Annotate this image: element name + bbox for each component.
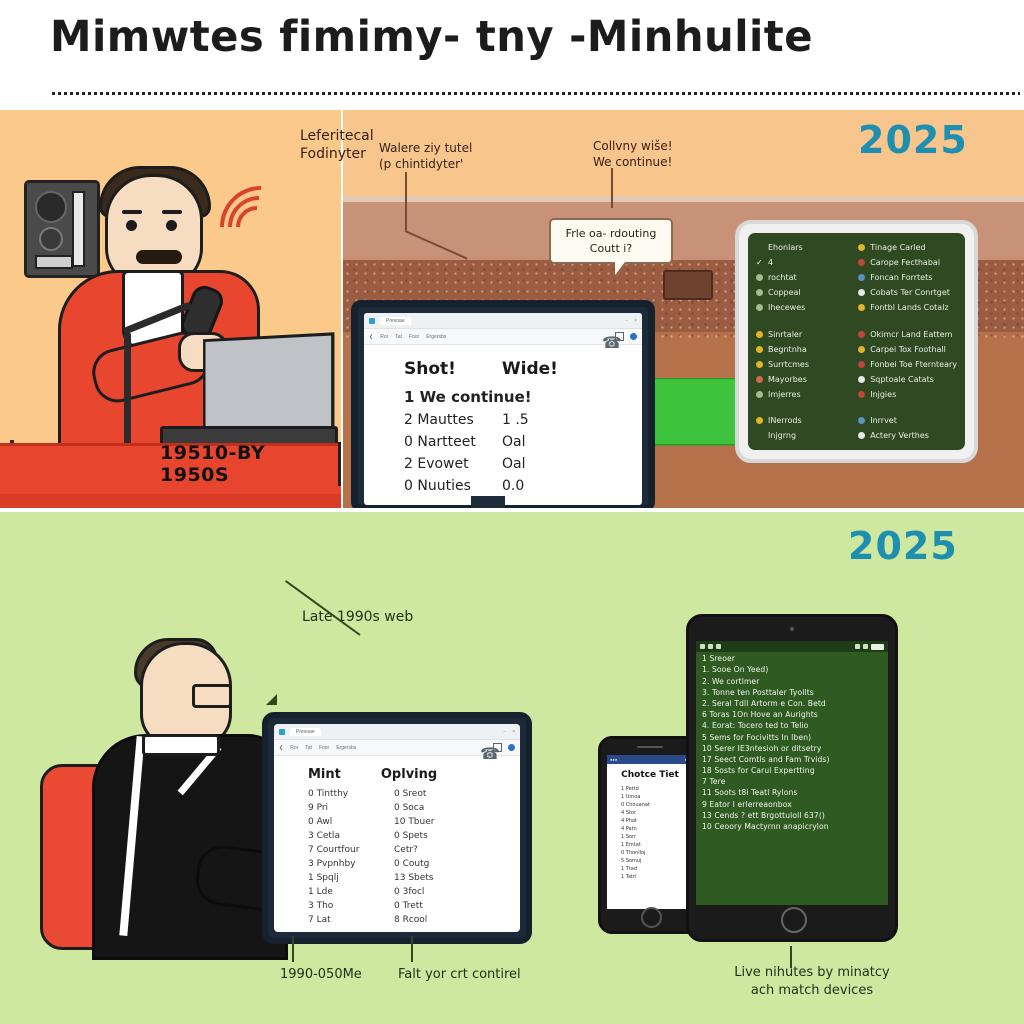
year-label-2025-bottom: 2025 xyxy=(848,524,958,568)
table-row: 0 Awl10 Tbuer xyxy=(308,817,520,827)
bullet-icon xyxy=(858,432,865,439)
list-item-label: Ihecewes xyxy=(768,303,805,312)
toolbar-item[interactable]: Ergersbs xyxy=(336,745,356,751)
toolbar-item[interactable]: Foor xyxy=(319,745,329,751)
toolbar-item[interactable]: Ergersbs xyxy=(426,334,446,340)
match-stats-sheet: Shot! Wide! 1 We continue! 2 Mauttes 1 .… xyxy=(364,345,642,494)
signal-bars-icon xyxy=(863,644,868,649)
list-item[interactable]: 13 Cends ? ett Brgottuloll 637() xyxy=(696,809,888,820)
list-item[interactable]: 0 Chouanat xyxy=(607,802,693,810)
profile-icon[interactable] xyxy=(630,333,637,340)
list-item-label: rochtat xyxy=(768,273,797,282)
list-item[interactable]: 18 Sosts for Carul Expertting xyxy=(696,764,888,775)
radio-speaker-icon xyxy=(24,180,100,278)
stadium-press-box xyxy=(663,270,713,300)
close-icon[interactable]: × xyxy=(512,729,515,735)
radio-side-label: Leferitecal Fodinyter xyxy=(300,127,420,163)
commentator-eye xyxy=(166,220,177,231)
list-item[interactable]: Carope Fecthabal xyxy=(858,258,957,267)
stats-col-header-right: Wide! xyxy=(502,359,558,379)
phone-home-button[interactable] xyxy=(641,907,662,928)
list-item[interactable]: 3. Tonne ten Posttaler Tyollts xyxy=(696,686,888,697)
cell-left: 1 Lde xyxy=(308,887,384,897)
list-item[interactable]: 10 Serer IE3ntesioh or ditsetry xyxy=(696,742,888,753)
toolbar-item[interactable]: Foor xyxy=(409,334,419,340)
radio-side-label-line2: Fodinyter xyxy=(300,145,420,163)
table-row: 3 Tho0 Trett xyxy=(308,901,520,911)
year-label-2025-top: 2025 xyxy=(858,118,968,162)
window-controls[interactable]: − × xyxy=(625,318,637,324)
list-item-label: Surrtcmes xyxy=(768,360,809,369)
cell-left: 0 Tintthy xyxy=(308,789,384,799)
minimize-icon[interactable]: − xyxy=(503,729,506,735)
stadium-tablet: Ehonlars✓4rochtatCoppealIhecewesSinrtale… xyxy=(735,220,978,463)
monitor-neck xyxy=(471,496,505,508)
bullet-icon xyxy=(858,289,865,296)
browser-toolbar[interactable]: ❮ Ror Tat Foor Ergersbs ☎ xyxy=(364,329,642,345)
browser-tab-bar[interactable]: Prevoae − × xyxy=(364,313,642,329)
browser-toolbar[interactable]: ❮ Ror Tat Foor Ergersbs ☎ xyxy=(274,740,520,756)
list-item-label: Coppeal xyxy=(768,288,801,297)
check-icon: ✓ xyxy=(756,259,763,266)
list-item[interactable]: Foncan Forrtets xyxy=(858,273,957,282)
toolbar-item[interactable]: Ror xyxy=(380,334,388,340)
list-spacer xyxy=(858,405,957,411)
speech-bubble-line2: Coutt i? xyxy=(556,241,666,256)
toolbar-item[interactable]: Tat xyxy=(305,745,312,751)
bullet-icon xyxy=(756,304,763,311)
toolbar-item[interactable]: Tat xyxy=(395,334,402,340)
page-title: Mimwtes fimimy- tny -Minhulite xyxy=(50,12,813,62)
table-row: 1 Lde0 3focl xyxy=(308,887,520,897)
panel-radio-era: 19510-BY 1950S xyxy=(0,110,341,508)
tablet-home-button[interactable] xyxy=(781,907,807,933)
list-item[interactable]: Okimcr Land Eattem xyxy=(858,330,957,339)
list-spacer xyxy=(858,318,957,324)
list-item-label: INerrods xyxy=(768,416,802,425)
browser-tab-bar[interactable]: Prevoae − × xyxy=(274,724,520,740)
bullet-icon xyxy=(756,244,763,251)
stats-col-header-left: Shot! xyxy=(404,359,456,379)
bullet-icon xyxy=(858,331,865,338)
list-item[interactable]: Injgies xyxy=(858,390,957,399)
caption-right: Live nihutes by minatcy ach match device… xyxy=(702,964,922,1000)
list-item-label: Tinage Carled xyxy=(870,243,925,252)
desktop-monitor: Prevoae − × ❮ Ror Tat Foor Ergersbs ☎ xyxy=(351,300,655,508)
stats-header-row: Shot! Wide! xyxy=(404,359,642,379)
list-item[interactable]: 4 Phat xyxy=(607,818,693,826)
list-item-label: Mayorbes xyxy=(768,375,807,384)
annotation-arrow-head xyxy=(266,694,277,705)
bullet-icon xyxy=(858,346,865,353)
phone-status-bar: ●●● ■■ xyxy=(607,755,693,764)
list-item[interactable]: 1 Ttad xyxy=(607,866,693,874)
bullet-icon xyxy=(756,346,763,353)
list-item[interactable]: Tinage Carled xyxy=(858,243,957,252)
status-right-icons xyxy=(855,644,884,650)
list-item[interactable]: 0 Thonlloj xyxy=(607,850,693,858)
list-item[interactable]: ✓4 xyxy=(756,258,850,267)
cell-right: 0 Soca xyxy=(394,803,424,813)
annotation-right-line2: We continue! xyxy=(593,154,743,170)
list-item[interactable]: 4 Patn xyxy=(607,826,693,834)
list-item[interactable]: 4 Stor xyxy=(607,810,693,818)
browser-tab[interactable]: Prevoae xyxy=(380,317,411,325)
list-item[interactable]: 1. Sooe On Yeed) xyxy=(696,663,888,674)
list-item[interactable]: Carpei Tox Foothall xyxy=(858,345,957,354)
list-item-label: Sinrtaler xyxy=(768,330,802,339)
tablet-screen[interactable]: Ehonlars✓4rochtatCoppealIhecewesSinrtale… xyxy=(748,233,965,450)
cell-left: 1 Spqlj xyxy=(308,873,384,883)
browser-window[interactable]: Prevoae − × ❮ Ror Tat Foor Ergersbs ☎ xyxy=(364,313,642,505)
list-item[interactable]: Begntnha xyxy=(756,345,850,354)
table-row: 3 Cetla0 Spets xyxy=(308,831,520,841)
table-row: 9 Pri0 Soca xyxy=(308,803,520,813)
phone-screen[interactable]: ●●● ■■ Chotce Tiet 1 Pettd1 Umoa0 Chouan… xyxy=(607,755,693,909)
list-item-label: Okimcr Land Eattem xyxy=(870,330,952,339)
bluetooth-icon xyxy=(855,644,860,649)
modern-stats-sheet: Mint Oplving 0 Tintthy0 Sreot9 Pri0 Soca… xyxy=(274,756,520,925)
stats-headline-text: 1 We continue! xyxy=(404,388,532,406)
cell-left: 3 Tho xyxy=(308,901,384,911)
bullet-icon xyxy=(756,376,763,383)
caption-right-line2: ach match devices xyxy=(702,982,922,1000)
table-row: 0 Tintthy0 Sreot xyxy=(308,789,520,799)
list-item[interactable]: Ihecewes xyxy=(756,303,850,312)
commentator-moustache xyxy=(136,250,182,264)
copy-icon[interactable] xyxy=(493,743,502,752)
list-item[interactable]: INerrods xyxy=(756,416,850,425)
table-row: 3 Pvpnhby0 Coutg xyxy=(308,859,520,869)
cell-left: 0 Nuuties xyxy=(404,478,490,494)
speaker-switches xyxy=(35,255,73,269)
list-item-label: Carope Fecthabal xyxy=(870,258,940,267)
bullet-icon xyxy=(756,391,763,398)
list-item[interactable]: Inrrvet xyxy=(858,416,957,425)
bullet-icon xyxy=(756,361,763,368)
list-item[interactable]: 2. We cortlmer xyxy=(696,674,888,685)
bullet-icon xyxy=(858,259,865,266)
list-item-label: Fontbl Lands Cotalz xyxy=(870,303,948,312)
cell-right: 1 .5 xyxy=(502,412,529,428)
laptop-screen xyxy=(203,332,334,438)
minimize-icon[interactable]: − xyxy=(625,318,628,324)
list-spacer xyxy=(756,318,850,324)
phone-earpiece xyxy=(637,746,663,748)
leader-line xyxy=(611,168,613,208)
commentator-brow xyxy=(162,210,182,214)
list-item[interactable]: Cobats Ter Conrtget xyxy=(858,288,957,297)
list-item[interactable]: 17 Seect Comtls and Fam Trvids) xyxy=(696,753,888,764)
speech-bubble-line1: Frle oa- rdouting xyxy=(556,226,666,241)
favicon-icon xyxy=(279,729,285,735)
list-item[interactable]: Ehonlars xyxy=(756,243,850,252)
cell-left: 0 Nartteet xyxy=(404,434,490,450)
list-item-label: Fonbei Toe Fternteary xyxy=(870,360,957,369)
radio-era-badge: 19510-BY 1950S xyxy=(160,442,341,486)
phone-icon[interactable]: ☎ xyxy=(480,744,487,751)
table-row: 0 Nartteet Oal xyxy=(404,434,642,450)
cell-right: 0 Coutg xyxy=(394,859,429,869)
list-item[interactable]: 5 Sems for Focivitts In Iben) xyxy=(696,730,888,741)
list-item-label: Injgrng xyxy=(768,431,796,440)
back-icon[interactable]: ❮ xyxy=(279,745,283,751)
radio-side-label-line1: Leferitecal xyxy=(300,127,420,145)
list-item[interactable]: 10 Ceoory Mactyrnn anapicrylon xyxy=(696,820,888,831)
live-feed-list[interactable]: 1 Sreoer1. Sooe On Yeed)2. We cortlmer3.… xyxy=(696,652,888,831)
list-item-label: Sqptoale Catats xyxy=(870,375,934,384)
list-item[interactable]: Imjerres xyxy=(756,390,850,399)
list-item[interactable]: Coppeal xyxy=(756,288,850,297)
leader-line xyxy=(405,172,407,232)
annotation-late-web: Late 1990s web xyxy=(302,608,413,627)
list-item[interactable]: Injgrng xyxy=(756,431,850,440)
list-item[interactable]: 4. Eorat: Tocero ted to Telio xyxy=(696,719,888,730)
list-item[interactable]: rochtat xyxy=(756,273,850,282)
close-icon[interactable]: × xyxy=(634,318,637,324)
speaker-knob xyxy=(39,227,63,251)
bullet-icon xyxy=(858,376,865,383)
panel-stadium-2025: Walere ziy tutel (p chintidyter' Collvny… xyxy=(343,110,1024,508)
cell-right: Oal xyxy=(502,434,526,450)
caption-tick xyxy=(292,936,294,962)
microphone-stand xyxy=(124,332,131,452)
bullet-icon xyxy=(756,274,763,281)
profile-icon[interactable] xyxy=(508,744,515,751)
list-item[interactable]: 1 Tatrl xyxy=(607,874,693,882)
list-item[interactable]: Mayorbes xyxy=(756,375,850,384)
manager-collar xyxy=(142,734,220,756)
list-item-label: Cobats Ter Conrtget xyxy=(870,288,950,297)
caption-tick xyxy=(411,936,413,962)
header-divider xyxy=(52,92,1020,95)
annotation-right-line1: Collvny wiše! xyxy=(593,138,743,154)
list-item-label: Begntnha xyxy=(768,345,807,354)
bullet-icon xyxy=(858,304,865,311)
status-left-icons xyxy=(700,644,721,649)
bullet-icon xyxy=(756,417,763,424)
phone-page-title: Chotce Tiet xyxy=(607,770,693,780)
annotation-right: Collvny wiše! We continue! xyxy=(593,138,743,170)
list-item-label: 4 xyxy=(768,258,773,267)
list-item-label: Carpei Tox Foothall xyxy=(870,345,946,354)
list-item-label: Foncan Forrtets xyxy=(870,273,932,282)
live-feed-screen[interactable]: 1 Sreoer1. Sooe On Yeed)2. We cortlmer3.… xyxy=(696,641,888,905)
stats-col-header-right: Oplving xyxy=(381,767,437,782)
list-item[interactable]: 9 Eator I erlerreaonbox xyxy=(696,797,888,808)
cell-left: 9 Pri xyxy=(308,803,384,813)
bullet-icon xyxy=(858,361,865,368)
list-item[interactable]: 6 Toras 1On Hove an Aurights xyxy=(696,708,888,719)
list-item[interactable]: Fonbei Toe Fternteary xyxy=(858,360,957,369)
cell-right: 0 Trett xyxy=(394,901,423,911)
list-item[interactable]: 2. Seral Tdll Artorm e Con. Betd xyxy=(696,697,888,708)
browser-window-modern[interactable]: Prevoae − × ❮ Ror Tat Foor Ergersbs ☎ xyxy=(274,724,520,932)
status-left-icons: ●●● xyxy=(610,757,617,762)
list-item[interactable]: 5 Somuj xyxy=(607,858,693,866)
window-controls[interactable]: − × xyxy=(503,729,515,735)
favicon-icon xyxy=(369,318,375,324)
phone-list[interactable]: 1 Pettd1 Umoa0 Chouanat4 Stor4 Phat4 Pat… xyxy=(607,786,693,882)
wifi-icon xyxy=(708,644,713,649)
cell-right: 0 Sreot xyxy=(394,789,426,799)
list-item[interactable]: 1 Sorr xyxy=(607,834,693,842)
list-item[interactable]: Surrtcmes xyxy=(756,360,850,369)
bullet-icon xyxy=(756,432,763,439)
table-row: 7 Lat8 Rcool xyxy=(308,915,520,925)
bullet-icon xyxy=(756,289,763,296)
commentator-brow xyxy=(122,210,142,214)
caption-left: 1990-050Me xyxy=(280,966,362,984)
cell-right: 10 Tbuer xyxy=(394,817,434,827)
list-item[interactable]: Actery Verthes xyxy=(858,431,957,440)
phone-icon[interactable]: ☎ xyxy=(602,333,609,340)
alarm-icon xyxy=(716,644,721,649)
list-item[interactable]: 1 Pettd xyxy=(607,786,693,794)
list-item[interactable]: 11 Soots t8i Teatl Rylons xyxy=(696,786,888,797)
browser-tab[interactable]: Prevoae xyxy=(290,728,321,736)
cell-right: 13 Sbets xyxy=(394,873,434,883)
tablet-camera xyxy=(790,627,794,631)
live-feed-tablet: 1 Sreoer1. Sooe On Yeed)2. We cortlmer3.… xyxy=(686,614,898,942)
list-item-label: Injgies xyxy=(870,390,896,399)
list-item[interactable]: 1 Umoa xyxy=(607,794,693,802)
cell-right: Oal xyxy=(502,456,526,472)
list-item[interactable]: 1 Sreoer xyxy=(696,652,888,663)
list-item-label: Imjerres xyxy=(768,390,801,399)
manager-tablet: Prevoae − × ❮ Ror Tat Foor Ergersbs ☎ xyxy=(262,712,532,944)
cell-left: 7 Lat xyxy=(308,915,384,925)
cell-left: 7 Courtfour xyxy=(308,845,384,855)
bullet-icon xyxy=(858,417,865,424)
caption-mid: Falt yor crt contirel xyxy=(398,966,521,984)
table-row: 0 Nuuties 0.0 xyxy=(404,478,642,494)
toolbar-item[interactable]: Ror xyxy=(290,745,298,751)
bullet-icon xyxy=(858,244,865,251)
stats-rows: 0 Tintthy0 Sreot9 Pri0 Soca0 Awl10 Tbuer… xyxy=(308,789,520,925)
stats-header-row: Mint Oplving xyxy=(308,767,520,782)
list-item-label: Inrrvet xyxy=(870,416,897,425)
signal-icon xyxy=(700,644,705,649)
cell-left: 3 Cetla xyxy=(308,831,384,841)
list-item-label: Ehonlars xyxy=(768,243,803,252)
list-item[interactable]: 1 Emtat xyxy=(607,842,693,850)
broadcast-wave-icon xyxy=(203,169,319,285)
cell-left: 3 Pvpnhby xyxy=(308,859,384,869)
tablet-column-left[interactable]: Ehonlars✓4rochtatCoppealIhecewesSinrtale… xyxy=(756,243,850,440)
table-row: 2 Evowet Oal xyxy=(404,456,642,472)
cell-left: 2 Mauttes xyxy=(404,412,490,428)
caption-right-line1: Live nihutes by minatcy xyxy=(702,964,922,982)
glasses-icon xyxy=(192,684,232,708)
battery-icon xyxy=(871,644,884,650)
speaker-slot xyxy=(72,191,85,267)
cell-right: Cetr? xyxy=(394,845,418,855)
list-item[interactable]: Sinrtaler xyxy=(756,330,850,339)
cell-right: 0 3focl xyxy=(394,887,424,897)
stats-col-header-left: Mint xyxy=(308,767,341,782)
table-row: 1 Spqlj13 Sbets xyxy=(308,873,520,883)
table-row: 2 Mauttes 1 .5 xyxy=(404,412,642,428)
list-item[interactable]: Fontbl Lands Cotalz xyxy=(858,303,957,312)
studio-desk-lip xyxy=(0,494,341,508)
list-item[interactable]: 7 Tere xyxy=(696,775,888,786)
list-spacer xyxy=(756,405,850,411)
cell-right: 0 Spets xyxy=(394,831,428,841)
speaker-grille xyxy=(35,191,67,223)
cell-left: 0 Awl xyxy=(308,817,384,827)
speech-bubble: Frle oa- rdouting Coutt i? xyxy=(549,218,673,264)
list-item[interactable]: Sqptoale Catats xyxy=(858,375,957,384)
bullet-icon xyxy=(858,274,865,281)
back-icon[interactable]: ❮ xyxy=(369,334,373,340)
bullet-icon xyxy=(858,391,865,398)
list-item-label: Actery Verthes xyxy=(870,431,929,440)
cell-left: 2 Evowet xyxy=(404,456,490,472)
table-row: 7 CourtfourCetr? xyxy=(308,845,520,855)
infographic-page: Mimwtes fimimy- tny -Minhulite xyxy=(0,0,1024,1024)
tablet-status-bar xyxy=(696,641,888,652)
header: Mimwtes fimimy- tny -Minhulite xyxy=(0,0,1024,110)
cell-right: 0.0 xyxy=(502,478,524,494)
tablet-column-right[interactable]: Tinage CarledCarope FecthabalFoncan Forr… xyxy=(858,243,957,440)
commentator-eye xyxy=(126,220,137,231)
cell-right: 8 Rcool xyxy=(394,915,427,925)
stats-headline: 1 We continue! xyxy=(404,388,642,406)
copy-icon[interactable] xyxy=(615,332,624,341)
bullet-icon xyxy=(756,331,763,338)
